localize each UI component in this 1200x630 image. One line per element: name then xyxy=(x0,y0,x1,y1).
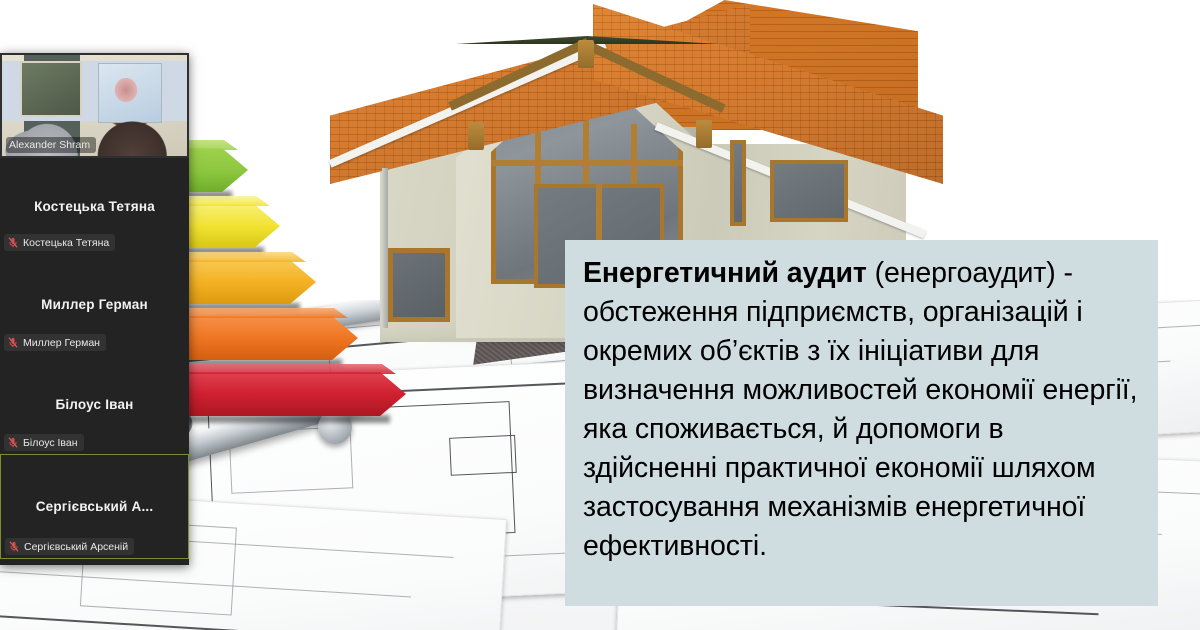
participant-tile-kostecka[interactable]: Костецька Тетяна Костецька Тетяна xyxy=(0,158,189,254)
side-window xyxy=(730,140,746,226)
participant-badge-name: Білоус Іван xyxy=(23,437,78,449)
participant-name-large: Сергієвський А... xyxy=(36,499,154,514)
mic-muted-icon xyxy=(7,336,19,349)
screenshot-canvas: Енергетичний аудит (енергоаудит) - обсте… xyxy=(0,0,1200,630)
participant-name-badge: Білоус Іван xyxy=(4,434,84,451)
participant-name-badge: Костецька Тетяна xyxy=(4,234,115,251)
participant-name-large: Миллер Герман xyxy=(41,297,148,312)
participant-tile-bilous[interactable]: Білоус Іван Білоус Іван xyxy=(0,354,189,454)
mic-muted-icon xyxy=(8,540,20,553)
participant-silhouette xyxy=(90,66,186,156)
definition-textbox: Енергетичний аудит (енергоаудит) - обсте… xyxy=(565,240,1158,606)
self-name-badge: Alexander Shram xyxy=(6,137,96,153)
side-window xyxy=(770,160,848,222)
self-video-tile[interactable]: Alexander Shram xyxy=(0,53,189,158)
participant-name-large: Костецька Тетяна xyxy=(34,199,155,214)
mic-muted-icon xyxy=(7,436,19,449)
participant-tile-miller[interactable]: Миллер Герман Миллер Герман xyxy=(0,254,189,354)
participant-badge-name: Миллер Герман xyxy=(23,337,100,349)
self-display-name: Alexander Shram xyxy=(9,139,90,151)
participant-tile-serhiievskyi[interactable]: Сергієвський А... Сергієвський Арсеній xyxy=(0,454,189,559)
definition-term: Енергетичний аудит xyxy=(583,257,867,289)
participant-name-badge: Миллер Герман xyxy=(4,334,106,351)
video-participants-panel[interactable]: Alexander Shram Костецька Тетяна Костець… xyxy=(0,53,189,565)
participant-badge-name: Костецька Тетяна xyxy=(23,237,109,249)
participant-name-badge: Сергієвський Арсеній xyxy=(5,538,134,555)
participant-badge-name: Сергієвський Арсеній xyxy=(24,541,128,553)
mic-muted-icon xyxy=(7,236,19,249)
definition-body: (енергоаудит) - обстеження підприємств, … xyxy=(583,257,1137,562)
participant-name-large: Білоус Іван xyxy=(55,397,133,412)
